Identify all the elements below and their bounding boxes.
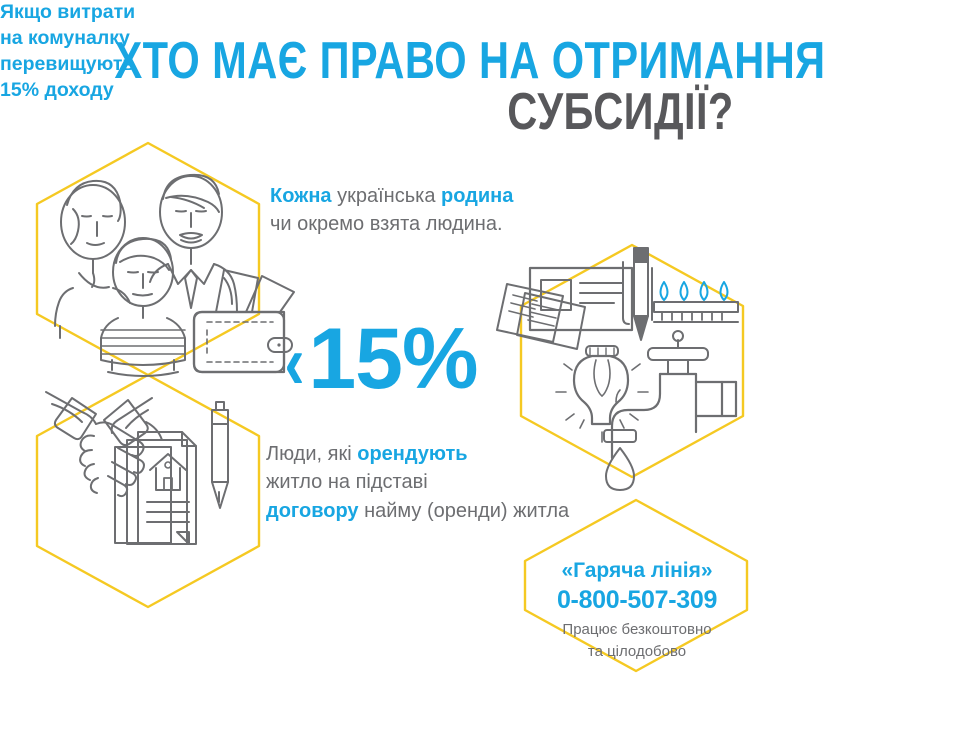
rent-bold-1: орендують [357,443,467,465]
family-text-block: Кожна українська родина чи окремо взята … [270,182,570,239]
percent-threshold: ‹15% [282,316,477,402]
less-than-icon: ‹ [284,325,303,401]
light-bulb-icon [556,346,648,442]
infographic-canvas: ХТО МАЄ ПРАВО НА ОТРИМАННЯ СУБСИДІЇ? [0,0,960,729]
family-plain-1: українська [337,185,441,207]
hotline-note-line-1: Працює безкоштовно [527,620,747,640]
percent-value: 15% [308,311,477,407]
family-plain-2: чи окремо взята людина. [270,213,503,235]
hotline-block: «Гаряча лінія» 0-800-507-309 Працює безк… [527,558,747,661]
bills-papers-icon [497,268,632,349]
woman-face-icon [55,181,130,338]
family-bold-2: родина [441,185,513,207]
illustration-layer [0,0,960,729]
family-bold-1: Кожна [270,185,337,207]
rent-plain-1: Люди, які [266,443,357,465]
handshake-icon [46,392,162,496]
hotline-note-line-2: та цілодобово [527,642,747,662]
house-icon [150,454,186,490]
gas-burner-icon [654,282,738,322]
hexagon-frame-family [37,143,259,375]
hotline-number[interactable]: 0-800-507-309 [527,584,747,618]
rent-text-block: Люди, які орендують житло на підставі до… [266,440,636,525]
rent-plain-2: житло на підставі [266,471,428,493]
pen-icon-utilities [623,248,652,340]
contract-document-icon [115,432,196,544]
rent-bold-2: договору [266,500,364,522]
rent-plain-3: найму (оренди) житла [364,500,569,522]
handshake-contract-illustration [46,392,228,544]
hotline-title: «Гаряча лінія» [527,558,747,584]
